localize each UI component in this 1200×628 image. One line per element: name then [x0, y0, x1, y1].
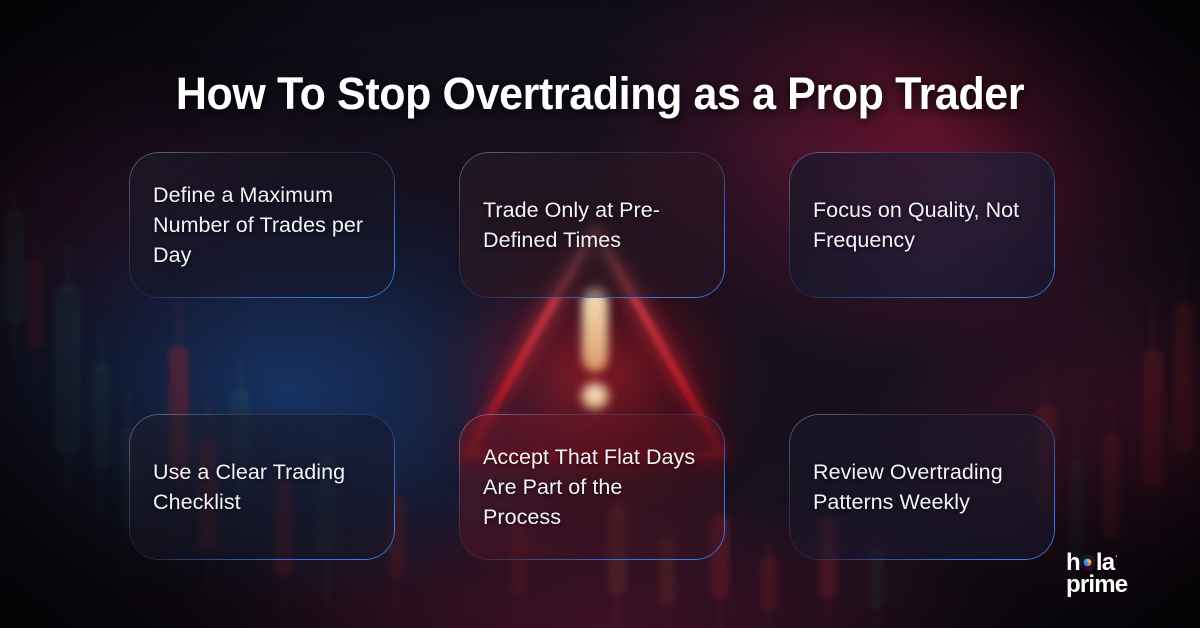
tip-card-quality-not-frequency[interactable]: Focus on Quality, Not Frequency — [789, 152, 1055, 298]
tip-card-label: Review Overtrading Patterns Weekly — [813, 457, 1031, 517]
tip-card-label: Use a Clear Trading Checklist — [153, 457, 371, 517]
registered-mark: · — [1115, 553, 1117, 560]
logo-line-prime: prime — [1066, 574, 1170, 596]
tip-card-pre-defined-times[interactable]: Trade Only at Pre-Defined Times — [459, 152, 725, 298]
tip-card-trading-checklist[interactable]: Use a Clear Trading Checklist — [129, 414, 395, 560]
tip-card-review-patterns-weekly[interactable]: Review Overtrading Patterns Weekly — [789, 414, 1055, 560]
tip-card-label: Focus on Quality, Not Frequency — [813, 195, 1031, 255]
tip-card-label: Accept That Flat Days Are Part of the Pr… — [483, 442, 701, 532]
tip-card-label: Trade Only at Pre-Defined Times — [483, 195, 701, 255]
promo-graphic: How To Stop Overtrading as a Prop Trader… — [0, 0, 1200, 628]
holaprime-logo[interactable]: h la · prime — [1066, 552, 1170, 597]
tip-card-label: Define a Maximum Number of Trades per Da… — [153, 180, 371, 270]
tip-card-max-trades-per-day[interactable]: Define a Maximum Number of Trades per Da… — [129, 152, 395, 298]
page-title: How To Stop Overtrading as a Prop Trader — [27, 70, 1173, 119]
tip-card-flat-days[interactable]: Accept That Flat Days Are Part of the Pr… — [459, 414, 725, 560]
logo-gradient-o-icon — [1080, 555, 1095, 570]
logo-text-prime: prime — [1066, 574, 1127, 596]
